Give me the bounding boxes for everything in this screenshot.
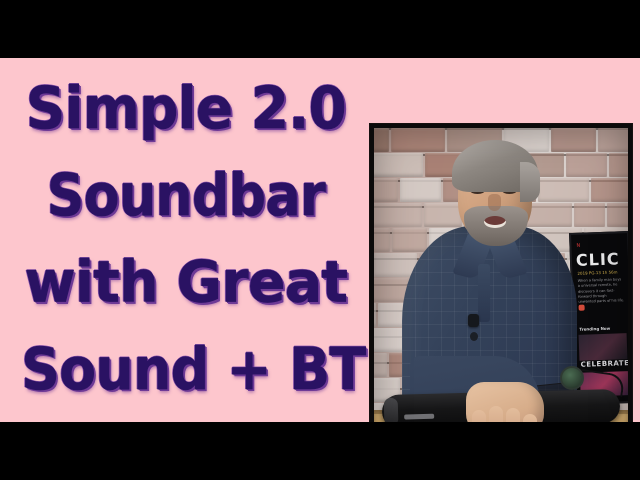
streaming-logo-icon: N (576, 243, 581, 249)
brick (374, 178, 398, 202)
streaming-meta: 2019 PG-13 1h 56m (577, 269, 617, 275)
brick (374, 128, 389, 152)
headline-block: Simple 2.0 Soundbar with Great Sound + B… (26, 84, 346, 396)
headline-line-2: Soundbar (26, 168, 346, 225)
brick (538, 178, 589, 202)
brick (598, 128, 628, 152)
thumbnail-panel: Simple 2.0 Soundbar with Great Sound + B… (0, 58, 640, 422)
presenter-photo: N CLIC 2019 PG-13 1h 56m When a family m… (374, 128, 628, 468)
streaming-description: When a family man buys a universal remot… (578, 277, 625, 305)
brick (566, 153, 607, 177)
letterbox-bar-top (0, 0, 640, 58)
streaming-subheading: Trending Now (579, 326, 610, 332)
soundbar-brand-logo (404, 414, 434, 420)
presenter-hair-side (520, 162, 540, 202)
brick (392, 228, 426, 252)
video-frame: Simple 2.0 Soundbar with Great Sound + B… (0, 0, 640, 480)
brick (374, 228, 390, 252)
brick (400, 178, 441, 202)
brick (609, 153, 628, 177)
brick (424, 203, 462, 227)
headline-line-4: Sound + BT (21, 342, 351, 399)
presenter-nose (488, 194, 501, 211)
brick (551, 128, 596, 152)
brick (374, 303, 376, 327)
presenter-mouth (484, 216, 506, 228)
brick (574, 203, 605, 227)
streaming-tile-title: CELEBRATE (580, 359, 628, 369)
brick (374, 203, 422, 227)
shirt-placket (478, 264, 490, 322)
brick (374, 153, 423, 177)
streaming-badge-icon (579, 305, 585, 311)
headline-line-3: with Great (16, 255, 355, 311)
brick (391, 128, 445, 152)
headline-line-1: Simple 2.0 (18, 81, 354, 138)
brick (591, 178, 628, 202)
streaming-tile-1 (579, 333, 628, 361)
shirt-button (470, 332, 478, 341)
streaming-title: CLIC (576, 249, 620, 270)
letterbox-bar-bottom (0, 422, 640, 480)
brick (607, 203, 628, 227)
photo-frame: N CLIC 2019 PG-13 1h 56m When a family m… (370, 124, 632, 472)
brick (374, 353, 387, 377)
lapel-microphone-icon (468, 314, 479, 327)
